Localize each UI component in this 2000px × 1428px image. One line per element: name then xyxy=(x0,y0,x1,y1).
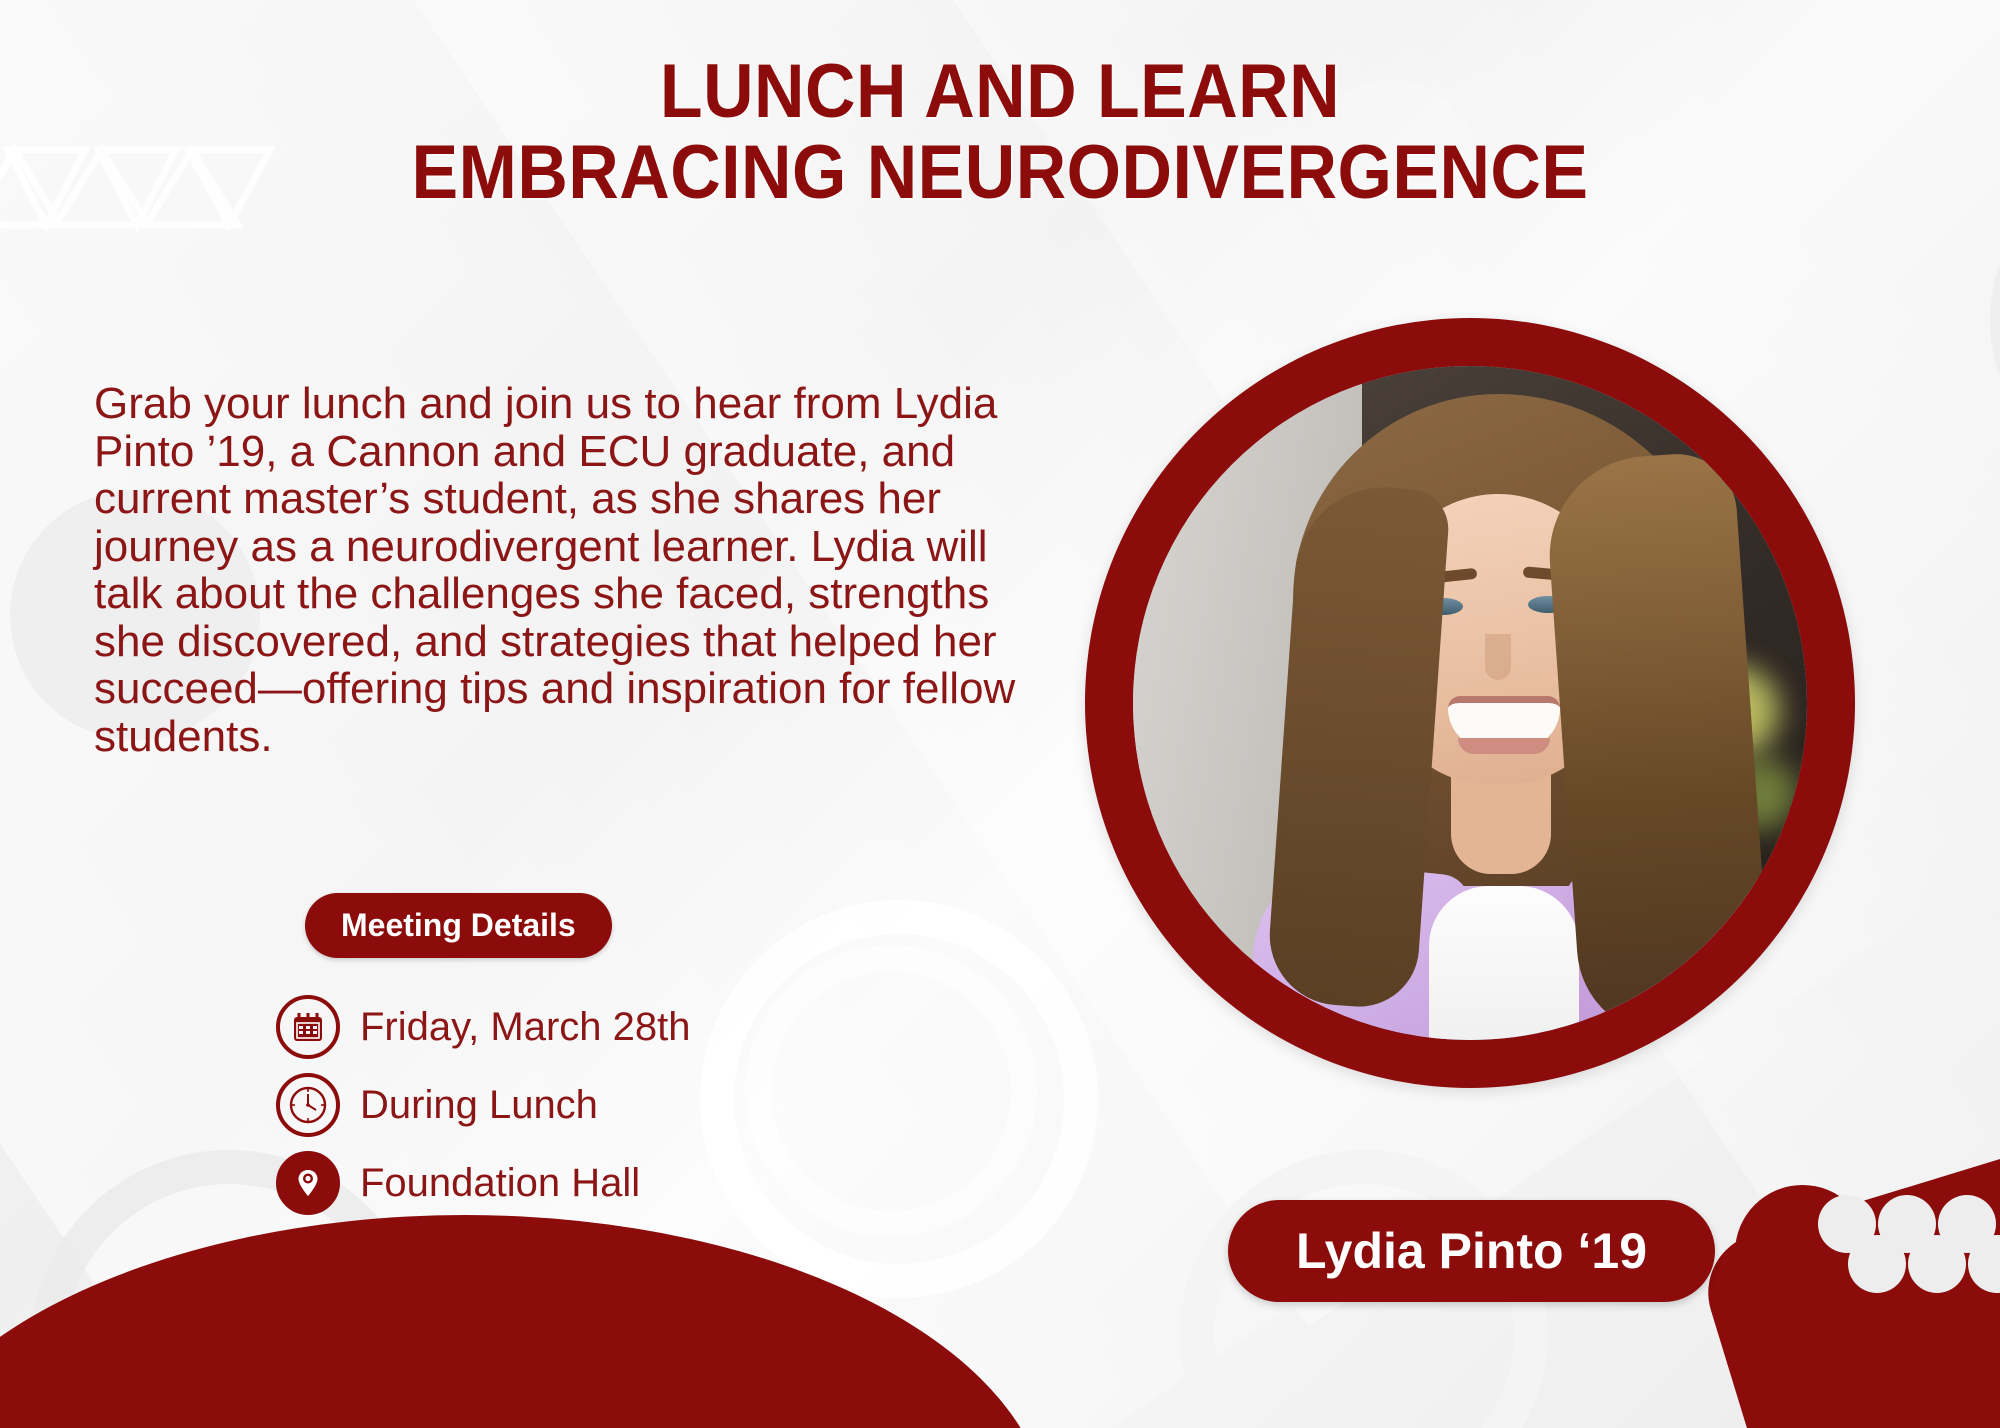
red-circle-bottom-right xyxy=(1735,1185,1870,1320)
clock-icon xyxy=(276,1073,340,1137)
dot-grid-item xyxy=(1878,1195,1936,1253)
dot-grid-item xyxy=(1818,1195,1876,1253)
photo-hair-right xyxy=(1543,450,1773,1040)
photo-shirt xyxy=(1429,886,1579,1040)
location-pin-icon xyxy=(276,1151,340,1215)
dot-grid-item xyxy=(1908,1235,1966,1293)
speaker-name-banner: Lydia Pinto ‘19 xyxy=(1228,1200,1715,1302)
calendar-icon xyxy=(276,995,340,1059)
speaker-portrait xyxy=(1133,366,1807,1040)
list-item: During Lunch xyxy=(276,1073,691,1137)
event-description: Grab your lunch and join us to hear from… xyxy=(94,380,1054,760)
title-line-2: EMBRACING NEURODIVERGENCE xyxy=(80,133,1920,214)
poster-canvas: LUNCH AND LEARN EMBRACING NEURODIVERGENC… xyxy=(0,0,2000,1428)
dot-grid-item xyxy=(1968,1235,2000,1293)
red-ellipse-bottom-left xyxy=(0,1215,1050,1428)
meeting-details-badge: Meeting Details xyxy=(305,893,612,958)
meeting-details-list: Friday, March 28th During Lunch xyxy=(276,995,691,1229)
speaker-photo xyxy=(1133,366,1807,1040)
photo-lower-lip xyxy=(1458,738,1550,754)
detail-text-date: Friday, March 28th xyxy=(360,1005,691,1050)
detail-text-time: During Lunch xyxy=(360,1083,598,1128)
dot-grid-item xyxy=(1848,1235,1906,1293)
detail-text-location: Foundation Hall xyxy=(360,1161,640,1206)
decorative-ring-center-inner xyxy=(745,945,1037,1237)
page-title: LUNCH AND LEARN EMBRACING NEURODIVERGENC… xyxy=(80,52,1920,213)
title-line-1: LUNCH AND LEARN xyxy=(80,52,1920,133)
speaker-portrait-ring xyxy=(1085,318,1855,1088)
event-description-text: Grab your lunch and join us to hear from… xyxy=(94,380,1054,760)
list-item: Foundation Hall xyxy=(276,1151,691,1215)
dot-grid-item xyxy=(1938,1195,1996,1253)
photo-nose xyxy=(1485,634,1511,680)
list-item: Friday, March 28th xyxy=(276,995,691,1059)
decorative-ring-center xyxy=(700,900,1098,1298)
red-corner-shape xyxy=(1693,1156,2000,1428)
soft-circle-top-right xyxy=(1990,160,2000,480)
